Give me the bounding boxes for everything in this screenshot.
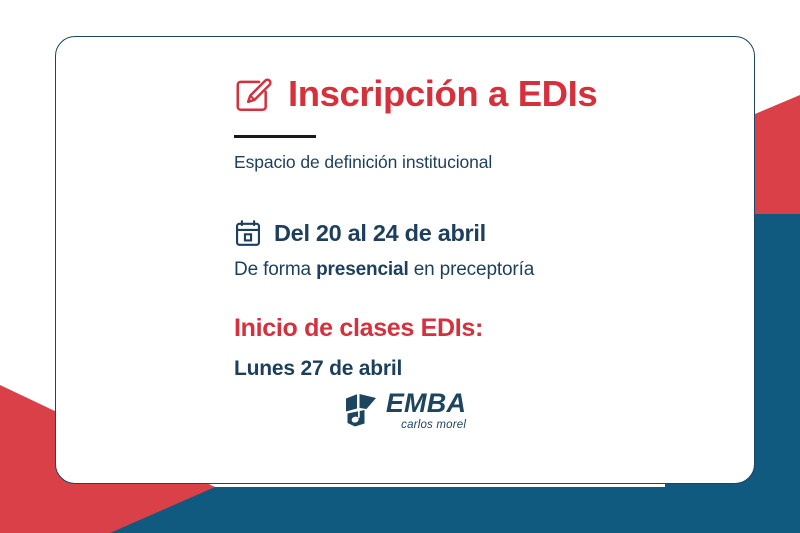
- class-start-date: Lunes 27 de abril: [234, 358, 754, 379]
- emba-logo-name: EMBA: [386, 390, 466, 417]
- enrollment-date-block: Del 20 al 24 de abril De forma presencia…: [234, 219, 754, 282]
- content-card: Inscripción a EDIs Espacio de definición…: [55, 36, 755, 484]
- logo-area: EMBA carlos morel: [56, 390, 754, 432]
- page-subtitle: Espacio de definición institucional: [234, 152, 754, 173]
- modality-note-prefix: De forma: [234, 259, 316, 280]
- calendar-icon: [234, 219, 262, 247]
- class-start-block: Inicio de clases EDIs: Lunes 27 de abril: [234, 316, 754, 379]
- modality-note-emphasis: presencial: [316, 259, 409, 280]
- modality-note-suffix: en preceptoría: [409, 259, 535, 280]
- enrollment-modality-note: De forma presencial en preceptoría: [234, 259, 754, 282]
- class-start-heading: Inicio de clases EDIs:: [234, 316, 754, 341]
- enrollment-date-heading: Del 20 al 24 de abril: [274, 222, 486, 246]
- emba-logo-text: EMBA carlos morel: [386, 390, 466, 432]
- enrollment-date-row: Del 20 al 24 de abril: [234, 219, 754, 247]
- emba-logo-tagline: carlos morel: [386, 420, 466, 432]
- title-divider: [234, 135, 316, 138]
- page-title: Inscripción a EDIs: [288, 76, 597, 113]
- poster-canvas: Inscripción a EDIs Espacio de definición…: [0, 0, 800, 533]
- emba-logo-mark-icon: [344, 392, 378, 428]
- emba-logo: EMBA carlos morel: [344, 390, 466, 432]
- title-row: Inscripción a EDIs: [234, 65, 754, 123]
- edit-pencil-icon: [234, 76, 274, 116]
